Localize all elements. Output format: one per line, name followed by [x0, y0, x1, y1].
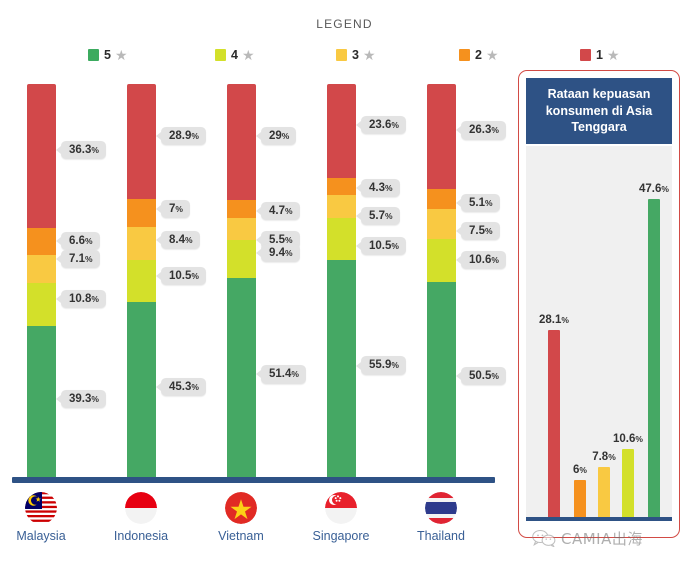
legend-item-2-star[interactable]: 2 ★ [459, 45, 499, 65]
value-label-thailand-1-star: 26.3% [461, 121, 506, 139]
summary-value-label-2-star: 6% [560, 464, 600, 476]
segment-2-star [127, 199, 156, 227]
summary-bar-4-star[interactable] [622, 449, 634, 521]
value-label-malaysia-2-star: 6.6% [61, 232, 100, 250]
bar-vietnam[interactable] [227, 84, 256, 483]
value-label-singapore-3-star: 5.7% [361, 207, 400, 225]
summary-bar-5-star[interactable] [648, 199, 660, 520]
segment-5-star [427, 282, 456, 483]
summary-bar-3-star[interactable] [598, 467, 610, 520]
bar-singapore[interactable] [327, 84, 356, 483]
vietnam-flag [225, 492, 257, 524]
value-label-indonesia-3-star: 8.4% [161, 231, 200, 249]
segment-2-star [27, 228, 56, 254]
segment-2-star [327, 178, 356, 195]
segment-4-star [327, 218, 356, 260]
country-thailand[interactable]: Thailand [395, 492, 487, 543]
summary-bar-2-star[interactable] [574, 480, 586, 520]
star-icon: ★ [242, 48, 255, 62]
country-singapore[interactable]: Singapore [295, 492, 387, 543]
country-label: Singapore [295, 529, 387, 543]
summary-value-label-1-star: 28.1% [534, 314, 574, 326]
value-label-vietnam-1-star: 29% [261, 127, 296, 145]
legend-item-4-star[interactable]: 4 ★ [215, 45, 255, 65]
segment-3-star [127, 227, 156, 261]
chart-baseline [12, 477, 495, 483]
summary-baseline [526, 517, 672, 521]
segment-4-star [127, 260, 156, 302]
segment-3-star [427, 209, 456, 239]
summary-panel-title: Rataan kepuasan konsumen di Asia Tenggar… [526, 78, 672, 144]
segment-1-star [27, 84, 56, 229]
segment-4-star [427, 239, 456, 281]
summary-bar-1-star[interactable] [548, 330, 560, 520]
value-label-malaysia-3-star: 7.1% [61, 250, 100, 268]
value-label-singapore-2-star: 4.3% [361, 179, 400, 197]
value-label-indonesia-2-star: 7% [161, 200, 190, 218]
value-label-thailand-4-star: 10.6% [461, 251, 506, 269]
legend-swatch-3-star [336, 49, 347, 61]
value-label-thailand-3-star: 7.5% [461, 222, 500, 240]
country-label: Thailand [395, 529, 487, 543]
bar-thailand[interactable] [427, 84, 456, 483]
country-axis: MalaysiaIndonesiaVietnamSingaporeThailan… [0, 492, 510, 562]
value-label-indonesia-1-star: 28.9% [161, 127, 206, 145]
segment-5-star [227, 278, 256, 483]
legend-label-2-star: 2 [475, 49, 482, 62]
value-label-malaysia-1-star: 36.3% [61, 141, 106, 159]
watermark-text: CAMIA出海 [561, 528, 643, 549]
star-icon: ★ [363, 48, 376, 62]
value-label-singapore-1-star: 23.6% [361, 116, 406, 134]
legend-swatch-4-star [215, 49, 226, 61]
legend: 5 ★ 4 ★ 3 ★ 2 ★ 1 ★ [0, 45, 689, 65]
legend-swatch-2-star [459, 49, 470, 61]
singapore-flag [325, 492, 357, 524]
summary-bar-chart: 28.1%6%7.8%10.6%47.6% [526, 146, 672, 520]
legend-item-3-star[interactable]: 3 ★ [336, 45, 376, 65]
bar-malaysia[interactable] [27, 84, 56, 483]
value-label-vietnam-4-star: 9.4% [261, 244, 300, 262]
segment-5-star [327, 260, 356, 483]
value-label-indonesia-5-star: 45.3% [161, 378, 206, 396]
value-label-singapore-5-star: 55.9% [361, 356, 406, 374]
segment-3-star [27, 255, 56, 283]
bar-indonesia[interactable] [127, 84, 156, 483]
country-label: Vietnam [195, 529, 287, 543]
indonesia-flag [125, 492, 157, 524]
watermark: CAMIA出海 [532, 525, 677, 551]
segment-4-star [27, 283, 56, 326]
legend-label-4-star: 4 [231, 49, 238, 62]
wechat-icon [532, 529, 556, 547]
summary-panel: Rataan kepuasan konsumen di Asia Tenggar… [518, 70, 680, 538]
segment-1-star [327, 84, 356, 178]
thailand-flag [425, 492, 457, 524]
country-malaysia[interactable]: Malaysia [0, 492, 87, 543]
legend-title: LEGEND [0, 17, 689, 31]
stacked-bar-chart [0, 78, 510, 483]
value-label-singapore-4-star: 10.5% [361, 237, 406, 255]
value-label-malaysia-4-star: 10.8% [61, 290, 106, 308]
malaysia-flag [25, 492, 57, 524]
country-label: Malaysia [0, 529, 87, 543]
value-label-vietnam-2-star: 4.7% [261, 202, 300, 220]
segment-5-star [27, 326, 56, 483]
summary-value-label-5-star: 47.6% [634, 183, 674, 195]
star-icon: ★ [115, 48, 128, 62]
segment-3-star [327, 195, 356, 218]
segment-1-star [227, 84, 256, 200]
value-label-indonesia-4-star: 10.5% [161, 267, 206, 285]
star-icon: ★ [486, 48, 499, 62]
legend-label-3-star: 3 [352, 49, 359, 62]
country-indonesia[interactable]: Indonesia [95, 492, 187, 543]
segment-5-star [127, 302, 156, 483]
segment-2-star [427, 189, 456, 209]
summary-value-label-4-star: 10.6% [608, 433, 648, 445]
country-label: Indonesia [95, 529, 187, 543]
legend-label-5-star: 5 [104, 49, 111, 62]
value-label-vietnam-5-star: 51.4% [261, 365, 306, 383]
legend-swatch-5-star [88, 49, 99, 61]
value-label-thailand-5-star: 50.5% [461, 367, 506, 385]
value-label-malaysia-5-star: 39.3% [61, 390, 106, 408]
segment-1-star [127, 84, 156, 199]
segment-1-star [427, 84, 456, 189]
legend-label-1-star: 1 [596, 49, 603, 62]
segment-3-star [227, 218, 256, 240]
value-label-thailand-2-star: 5.1% [461, 194, 500, 212]
star-icon: ★ [607, 48, 620, 62]
legend-swatch-1-star [580, 49, 591, 61]
legend-item-5-star[interactable]: 5 ★ [88, 45, 128, 65]
infographic-root: LEGEND 5 ★ 4 ★ 3 ★ 2 ★ 1 ★ Malay [0, 0, 689, 575]
legend-item-1-star[interactable]: 1 ★ [580, 45, 620, 65]
segment-2-star [227, 200, 256, 219]
segment-4-star [227, 240, 256, 278]
country-vietnam[interactable]: Vietnam [195, 492, 287, 543]
summary-value-label-3-star: 7.8% [584, 451, 624, 463]
